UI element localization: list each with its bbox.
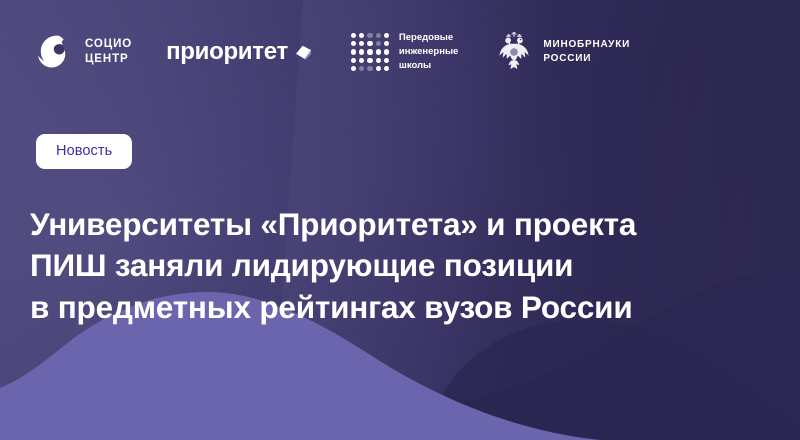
advanced-engineering-schools-dot-grid-logo-icon	[351, 33, 389, 71]
news-banner: СОЦИО ЦЕНТР приоритет	[0, 0, 800, 440]
prioritet-rhombus-logo-icon	[294, 43, 313, 62]
russian-double-headed-eagle-coat-of-arms-icon	[495, 31, 533, 73]
logo-advanced-engineering-schools-label: Передовые инженерные школы	[399, 31, 458, 73]
logo-minobrnauki[interactable]: МИНОБРНАУКИ РОССИИ	[495, 31, 630, 73]
logo-sociocentre[interactable]: СОЦИО ЦЕНТР	[36, 32, 132, 72]
status-badge[interactable]: Новость	[36, 134, 132, 169]
logo-advanced-engineering-schools[interactable]: Передовые инженерные школы	[351, 31, 458, 73]
sociocentre-swoosh-logo-icon	[36, 32, 76, 72]
page-title-line-1: Университеты «Приоритета» и проекта	[30, 204, 730, 245]
page-title-line-3: в предметных рейтингах вузов России	[30, 287, 730, 328]
logo-minobrnauki-label: МИНОБРНАУКИ РОССИИ	[543, 38, 630, 67]
logo-sociocentre-label: СОЦИО ЦЕНТР	[85, 37, 132, 66]
logo-prioritet-label: приоритет	[166, 40, 288, 64]
page-title-line-2: ПИШ заняли лидирующие позиции	[30, 245, 730, 286]
partner-logo-row: СОЦИО ЦЕНТР приоритет	[36, 24, 630, 80]
logo-prioritet[interactable]: приоритет	[166, 40, 313, 64]
page-title: Университеты «Приоритета» и проекта ПИШ …	[30, 204, 730, 328]
